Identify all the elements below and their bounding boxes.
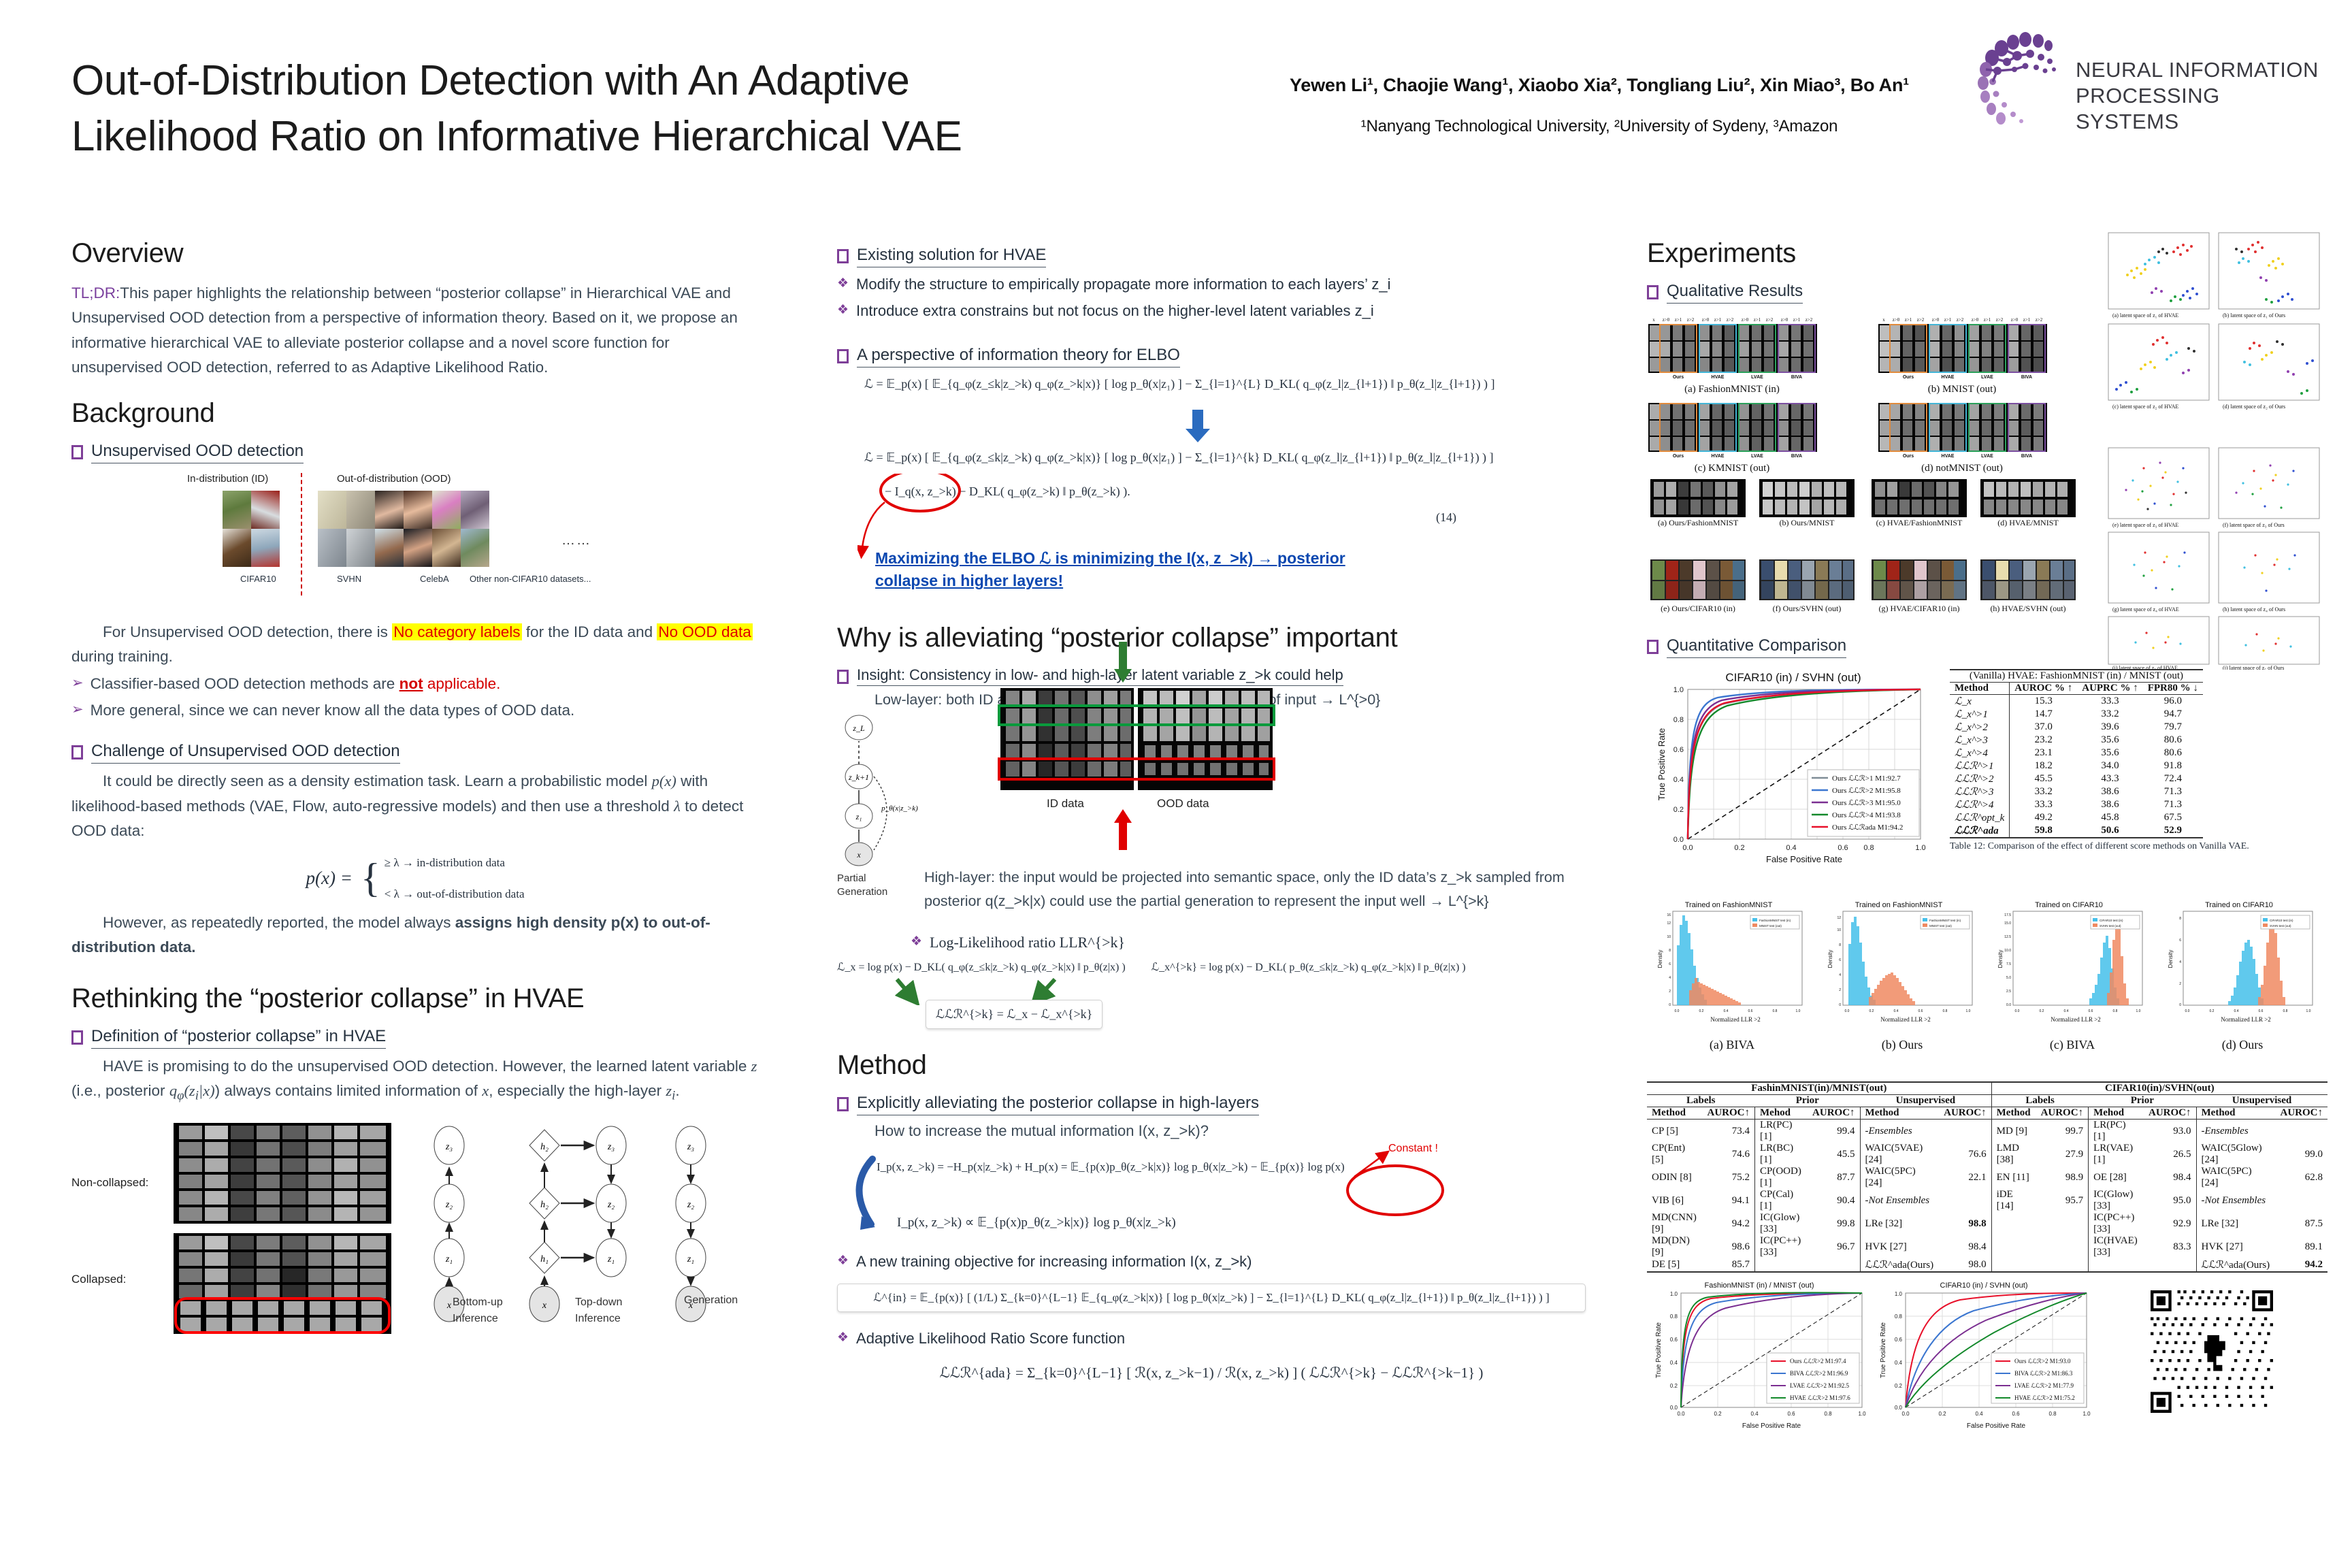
svg-text:0.2: 0.2 [1895,1383,1903,1389]
sub-challenge-label: Challenge of Unsupervised OOD detection [91,741,400,764]
table-cell [1991,1212,2036,1235]
table-cell: EN [11] [1991,1166,2036,1189]
table12-value-cell: 33.2 [2077,708,2143,721]
sample-grid-svg: xz>0z>1z>2 z>0z>1z>2 z>0z>1z>2 z>0z>1z>2… [1647,316,2096,528]
table-cell: CP [5] [1647,1120,1703,1143]
svg-text:BIVA: BIVA [1791,454,1802,459]
how-to-text: How to increase the mutual information I… [837,1122,1586,1140]
svg-text:0.6: 0.6 [1895,1337,1903,1343]
table12-method-cell: ℒ_x^>1 [1950,708,2010,721]
roc-fm-legend: Ours ℒℒℛ>2 M1:97.4 BIVA ℒℒℛ>2 M1:96.9 LV… [1767,1353,1859,1403]
equation-number-14: (14) [1436,510,1456,525]
table-cell [1755,1258,1808,1272]
equation-mi-2: I_p(x, z_>k) ∝ 𝔼_{p(x)p_θ(z_>k|x)} log p… [897,1215,1176,1230]
svg-text:(f) Ours/SVHN (out): (f) Ours/SVHN (out) [1773,604,1842,613]
svg-text:MNIST test (out): MNIST test (out) [1929,924,1952,928]
partial-gen-2: Generation [837,885,887,899]
thumb-ship [251,529,280,567]
svg-text:p_θ(x|z_>k): p_θ(x|z_>k) [881,804,918,813]
table-cell: LMD [38] [1991,1143,2036,1166]
down-arrow-icon [1184,410,1211,444]
svg-text:0.4: 0.4 [1670,1360,1678,1366]
svg-text:(c) HVAE/FashionMNIST: (c) HVAE/FashionMNIST [1876,518,1963,527]
main-comparison-table: FashinMNIST(in)/MNIST(out) CIFAR10(in)/S… [1647,1081,2327,1273]
table-cell: 98.6 [1703,1235,1755,1258]
figure-collapse-and-graphs: Non-collapsed: Collapsed: [71,1116,759,1341]
id-ood-divider [301,473,302,595]
table-cell: CP(Cal) [1] [1755,1189,1808,1212]
svg-text:Ours ℒℒℛ>2 M1:93.0: Ours ℒℒℛ>2 M1:93.0 [2014,1358,2071,1365]
svg-text:1.0: 1.0 [1915,844,1925,852]
svg-text:z>2: z>2 [1727,317,1734,323]
square-bullet-icon-2 [71,745,83,759]
table12-value-cell: 33.3 [2010,798,2078,811]
svg-text:(b) Ours/MNIST: (b) Ours/MNIST [1780,518,1835,527]
table-cell: MD [9] [1991,1120,2036,1143]
table12-method-cell: ℒ_x^>3 [1950,734,2010,747]
svg-text:MNIST test (out): MNIST test (out) [1759,924,1782,928]
svg-text:1.0: 1.0 [2136,1009,2141,1013]
svg-text:z_L: z_L [852,723,865,733]
table-cell: 94.1 [1703,1189,1755,1212]
sub-header-cell: Unsupervised [2196,1095,2327,1107]
svg-text:HVAE: HVAE [1712,454,1725,459]
svg-text:h₁: h₁ [540,1254,549,1264]
table12-value-cell: 71.3 [2143,798,2203,811]
svg-text:LVAE ℒℒℛ>2 M1:77.9: LVAE ℒℒℛ>2 M1:77.9 [2014,1382,2074,1389]
equation-px-piecewise: p(x) = { ≥ λ → in-distribution data < λ … [71,856,759,901]
svg-text:z>1: z>1 [1905,317,1912,323]
svg-text:0.6: 0.6 [1670,1337,1678,1343]
roc-main-xlabel: False Positive Rate [1766,854,1842,864]
bullet-extra-constraints: ❖ Introduce extra constrains but not foc… [837,299,1586,322]
brace-icon: { [361,861,380,896]
table-cell: WAIC(5PC) [24] [2196,1166,2275,1189]
latent-cap-b: (b) latent space of z₁ of Ours [2223,312,2285,318]
equation-ada-score: ℒℒℛ^{ada} = Σ_{k=0}^{L−1} [ ℛ(x, z_>k−1)… [837,1365,1586,1382]
bottom-roc-and-qr: FashionMNIST (in) / MNIST (out) 0.00.20.… [1647,1278,2341,1448]
diamond-bullet-icon: ❖ [837,274,849,294]
ada-score-label: Adaptive Likelihood Ratio Score function [856,1327,1125,1350]
table-row: ODIN [8]75.2CP(OOD) [1]87.7WAIC(5PC) [24… [1647,1166,2327,1189]
svg-text:2.5: 2.5 [2006,990,2011,994]
figure-id-ood-comparison: z_L z_k+1 z₁ x p_θ(x|z_>k) Partial Gener… [837,710,1586,883]
svg-text:z>0: z>0 [1972,317,1979,323]
llr-equation-row: ℒ_x = log p(x) − D_KL( q_φ(z_≤k|z_>k) q_… [837,960,1586,974]
bullet-modify-structure: ❖ Modify the structure to empirically pr… [837,273,1586,295]
table12-col-3: FPR80 % ↓ [2143,683,2203,695]
page-title: Out-of-Distribution Detection with An Ad… [71,53,1228,165]
svg-text:6: 6 [1839,958,1841,962]
svg-text:Trained on CIFAR10: Trained on CIFAR10 [2205,901,2273,909]
svg-text:0.2: 0.2 [1938,1411,1946,1417]
density-b: Trained on FashionMNIST [1827,901,1972,1052]
svg-text:FashionMNIST test (in): FashionMNIST test (in) [1759,919,1791,922]
svg-text:BIVA ℒℒℛ>2 M1:96.9: BIVA ℒℒℛ>2 M1:96.9 [1790,1370,1848,1377]
table12-value-cell: 37.0 [2010,721,2078,734]
table12-method-cell: ℒℒℛ^>1 [1950,759,2010,772]
tldr-label: TL;DR: [71,284,120,301]
table-cell: 95.7 [2036,1189,2089,1212]
square-bullet-icon-6 [837,670,849,684]
noncollapsed-sample-grid [174,1123,391,1224]
table-cell: 89.1 [2275,1235,2327,1258]
thumb-svhn-369 [346,491,375,529]
svg-text:z₁: z₁ [687,1254,694,1264]
main-table-head: FashinMNIST(in)/MNIST(out) CIFAR10(in)/S… [1647,1082,2327,1120]
equation-elbo-1: ℒ = 𝔼_p(x) [ 𝔼_{q_φ(z_≤k|z_>k) q_φ(z_>k|… [864,377,1495,391]
table-row: CP [5]73.4LR(PC) [1]99.4-EnsemblesMD [9]… [1647,1120,2327,1143]
section-why-heading: Why is alleviating “posterior collapse” … [837,623,1586,653]
svg-text:z₁: z₁ [607,1254,615,1264]
ellipsis-more-datasets: …… [561,533,591,549]
svg-text:0.4: 0.4 [1895,1360,1903,1366]
svg-text:0.2: 0.2 [1673,806,1684,814]
sub-quantitative-label: Quantitative Comparison [1667,636,1846,658]
sub-definition: Definition of “posterior collapse” in HV… [71,1026,759,1049]
title-line-1: Out-of-Distribution Detection with An Ad… [71,53,1228,109]
density-a: Trained on FashionMNIST [1657,901,1802,1052]
svg-text:Normalized LLR >2: Normalized LLR >2 [1880,1016,1931,1023]
table-cell: -Not Ensembles [2196,1189,2275,1212]
table12-value-cell: 80.6 [2143,747,2203,759]
svg-text:Normalized LLR >2: Normalized LLR >2 [2051,1016,2101,1023]
fig-svhn-caption: SVHN [337,574,361,584]
table12-value-cell: 14.7 [2010,708,2078,721]
thumb-frog [223,491,251,529]
table-cell: HVK [27] [2196,1235,2275,1258]
equation-mi-1: I_p(x, z_>k) = −H_p(x|z_>k) + H_p(x) = 𝔼… [877,1160,1345,1174]
table12-col-2: AUPRC % ↑ [2077,683,2143,695]
table-cell: 74.6 [1703,1143,1755,1166]
caption-top-down-b: Inference [575,1311,622,1327]
figure-id-ood-datasets: In-distribution (ID) Out-of-distribution… [71,473,759,616]
thumb-celeba-2 [404,491,432,529]
table-cell [1808,1258,1860,1272]
svg-text:HVAE ℒℒℛ>2 M1:75.2: HVAE ℒℒℛ>2 M1:75.2 [2014,1394,2075,1401]
table12-method-cell: ℒℒℛ^opt_k [1950,811,2010,824]
qr-code-icon[interactable] [2151,1290,2273,1413]
thumb-svhn-11 [318,529,346,567]
table12-value-cell: 59.8 [2010,824,2078,838]
table-cell [1991,1235,2036,1258]
ood-image-grid [318,491,489,567]
table12-value-cell: 67.5 [2143,811,2203,824]
table-cell: 95.0 [2144,1189,2196,1212]
density-cap-d: (d) Ours [2222,1038,2264,1052]
table-cell: 45.5 [1808,1143,1860,1166]
svg-text:z>2: z>2 [1766,317,1774,323]
svg-text:Ours: Ours [1673,454,1684,459]
table-cell: LRe [32] [2196,1212,2275,1235]
svg-text:1.0: 1.0 [1796,1009,1801,1013]
group-header-0: FashinMNIST(in)/MNIST(out) [1647,1082,1991,1095]
svg-text:CIFAR10 test (in): CIFAR10 test (in) [2100,919,2123,922]
svg-text:z₃: z₃ [687,1142,694,1152]
svg-text:0.0: 0.0 [1682,844,1693,852]
table12-body: ℒ_x15.333.396.0ℒ_x^>114.733.294.7ℒ_x^>23… [1950,695,2203,838]
svg-text:0.0: 0.0 [1673,836,1684,844]
svg-text:z₂: z₂ [445,1200,453,1210]
square-bullet-icon-8 [1647,285,1659,299]
svg-text:10.0: 10.0 [2004,949,2011,953]
table-cell: LRe [32] [1860,1212,1939,1235]
sub-existing-solution: Existing solution for HVAE [837,245,1586,267]
table-cell: 87.7 [1808,1166,1860,1189]
section-background-heading: Background [71,398,759,429]
sub-header-row: LabelsPriorUnsupervisedLabelsPriorUnsupe… [1647,1095,2327,1107]
table-cell [1939,1189,1991,1212]
svg-text:0.0: 0.0 [2006,1003,2011,1007]
arrow-bullet-icon-2: ➢ [71,699,84,721]
table-cell: 73.4 [1703,1120,1755,1143]
hvae-chain-diagram: z_L z_k+1 z₁ x p_θ(x|z_>k) [837,714,919,870]
density-c: Trained on CIFAR10 [1997,901,2142,1052]
diamond-bullet-icon-3: ❖ [911,932,922,952]
sub-explicit: Explicitly alleviating the posterior col… [837,1093,1586,1115]
svg-text:Ours ℒℒℛ>2 M1:97.4: Ours ℒℒℛ>2 M1:97.4 [1790,1358,1846,1365]
svg-text:16: 16 [1667,913,1671,917]
table-cell: 99.4 [1808,1120,1860,1143]
fig-ood-label: Out-of-distribution (OOD) [337,473,451,485]
table-cell: CP(OOD) [1] [1755,1166,1808,1189]
table-row: ℒℒℛ^opt_k49.245.867.5 [1950,811,2203,824]
table-cell: ℒℒℛ^ada(Ours) [2196,1258,2275,1272]
main-comparison-table-wrapper: FashinMNIST(in)/MNIST(out) CIFAR10(in)/S… [1647,1081,2341,1273]
cifar-svhn-sample-row: (e) Ours/CIFAR10 (in)(f) Ours/SVHN (out)… [1647,558,2096,618]
svg-text:z>1: z>1 [1714,317,1722,323]
table12-value-cell: 96.0 [2143,695,2203,708]
definition-paragraph: HAVE is promising to do the unsupervised… [71,1054,759,1107]
author-list: Yewen Li¹, Chaojie Wang¹, Xiaobo Xia², T… [1239,75,1960,96]
table-cell: MD(CNN) [9] [1647,1212,1703,1235]
col-header-cell: Method [1991,1107,2036,1120]
svg-text:8: 8 [1839,943,1841,947]
svg-text:z>1: z>1 [1675,317,1682,323]
svg-text:0.0: 0.0 [2015,1009,2020,1013]
svg-text:0.2: 0.2 [2210,1009,2215,1013]
svg-text:10: 10 [1667,935,1671,939]
table-cell: 26.5 [2144,1143,2196,1166]
svg-text:Normalized LLR >2: Normalized LLR >2 [1710,1016,1761,1023]
table-cell: IC(Glow) [33] [2089,1189,2144,1212]
bullet-more-general: ➢ More general, since we can never know … [71,699,759,723]
table12-value-cell: 72.4 [2143,772,2203,785]
svg-text:Trained on FashionMNIST: Trained on FashionMNIST [1855,901,1943,909]
svg-text:0.4: 0.4 [1724,1009,1729,1013]
table-cell [2036,1235,2089,1258]
thumb-horse [223,529,251,567]
col-header-cell: Method [2196,1107,2275,1120]
table12-value-cell: 33.2 [2010,785,2078,798]
svg-text:FashionMNIST test (in): FashionMNIST test (in) [1929,919,1961,922]
sub-perspective: A perspective of information theory for … [837,345,1586,367]
svg-text:z₂: z₂ [607,1200,615,1210]
svg-text:1.0: 1.0 [1673,686,1684,694]
svg-text:0.0: 0.0 [2185,1009,2190,1013]
middle-column: Existing solution for HVAE ❖ Modify the … [837,238,1586,1382]
sub-unsupervised-ood: Unsupervised OOD detection [71,441,759,463]
svg-text:0.6: 0.6 [2012,1411,2020,1417]
density-plots-row: Trained on FashionMNIST [1647,898,2341,1080]
table12-value-cell: 91.8 [2143,759,2203,772]
svg-text:0.6: 0.6 [1787,1411,1795,1417]
svg-text:0.0: 0.0 [1895,1405,1903,1411]
svg-text:0.0: 0.0 [1670,1405,1678,1411]
svg-text:z>1: z>1 [1793,317,1801,323]
col-header-cell: AUROC↑ [1703,1107,1755,1120]
table12-value-cell: 45.5 [2010,772,2078,785]
table-row: ℒℒℛ^>118.234.091.8 [1950,759,2203,772]
svg-text:z₃: z₃ [445,1142,453,1152]
table-cell: OE [28] [2089,1166,2144,1189]
cap-b: (b) MNIST (out) [1928,384,1997,395]
fig-label-ood-data: OOD data [1157,797,1209,811]
svg-text:BIVA ℒℒℛ>2 M1:86.3: BIVA ℒℒℛ>2 M1:86.3 [2014,1370,2073,1377]
bullet-ada-score: ❖ Adaptive Likelihood Ratio Score functi… [837,1327,1586,1350]
table12-method-cell: ℒℒℛ^>4 [1950,798,2010,811]
table12-value-cell: 38.6 [2077,798,2143,811]
table-cell: ODIN [8] [1647,1166,1703,1189]
svg-text:(d) HVAE/MNIST: (d) HVAE/MNIST [1997,518,2059,527]
table12-value-cell: 39.6 [2077,721,2143,734]
svg-text:0.6: 0.6 [2089,1009,2093,1013]
svg-text:HVAE: HVAE [1942,454,1955,459]
table-cell: WAIC(5PC) [24] [1860,1166,1939,1189]
table-cell: 92.9 [2144,1212,2196,1235]
svg-text:0.2: 0.2 [1869,1009,1874,1013]
col-header-cell: AUROC↑ [2144,1107,2196,1120]
svg-text:0: 0 [1669,1003,1671,1007]
partial-gen-1: Partial [837,872,887,885]
svg-text:6: 6 [2179,938,2181,943]
svg-text:12.5: 12.5 [2004,935,2011,939]
svg-text:2: 2 [2179,982,2181,986]
svg-text:HVAE: HVAE [1712,375,1725,380]
fig-label-id-data: ID data [1047,797,1084,811]
table-cell: 85.7 [1703,1258,1755,1272]
table12-method-cell: ℒℒℛ^>2 [1950,772,2010,785]
svg-text:8: 8 [1669,949,1671,953]
svg-text:x: x [1882,317,1885,323]
svg-text:Ours ℒℒℛ>3 M1:95.0: Ours ℒℒℛ>3 M1:95.0 [1832,799,1901,807]
latent-cap-d: (d) latent space of z₂ of Ours [2223,404,2285,410]
table12-value-cell: 79.7 [2143,721,2203,734]
poster-header: Out-of-Distribution Detection with An Ad… [0,0,2352,204]
fig-id-label: In-distribution (ID) [187,473,268,485]
id-image-grid [223,491,280,567]
svg-text:0.4: 0.4 [2234,1009,2239,1013]
group-header-1: CIFAR10(in)/SVHN(out) [1991,1082,2327,1095]
svg-text:0.8: 0.8 [2048,1411,2057,1417]
bullet-modify-structure-text: Modify the structure to empirically prop… [856,273,1390,295]
roc-fm-title: FashionMNIST (in) / MNIST (out) [1705,1281,1814,1290]
thumb-room [432,529,461,567]
table-cell: 76.6 [1939,1143,1991,1166]
table-cell: 75.2 [1703,1166,1755,1189]
arrow1-b: applicable. [423,675,501,692]
table-row: ℒ_x^>323.235.680.6 [1950,734,2203,747]
svg-text:0.2: 0.2 [1699,1009,1704,1013]
table-cell: 98.9 [2036,1166,2089,1189]
caption-top-down-a: Top-down [575,1294,622,1311]
table-cell [1939,1120,1991,1143]
bullet-classifier-based: ➢ Classifier-based OOD detection methods… [71,672,759,696]
table-cell [2089,1258,2144,1272]
svg-text:Ours: Ours [1903,375,1914,380]
bullet-more-general-text: More general, since we can never know al… [91,699,575,723]
svg-text:z>1: z>1 [1984,317,1991,323]
latent-space-panels-2: (e) latent space of z₃ of HVAE (f) laten… [2103,445,2327,670]
thumb-flower [432,491,461,529]
challenge-paragraph: It could be directly seen as a density e… [71,769,759,843]
svg-text:10: 10 [1837,928,1841,932]
svg-text:x: x [1652,317,1655,323]
table-cell: 99.7 [2036,1120,2089,1143]
svg-text:0.4: 0.4 [1894,1009,1899,1013]
table-cell: 94.2 [1703,1212,1755,1235]
svg-text:z>2: z>2 [1687,317,1695,323]
logo-line-1: NEURAL INFORMATION [2076,57,2327,83]
svg-text:0: 0 [1839,1003,1841,1007]
col-header-cell: Mehod [1755,1107,1808,1120]
table-row: ℒℒℛ^ada59.850.652.9 [1950,824,2203,838]
svg-text:7.5: 7.5 [2006,962,2011,966]
svg-text:0.8: 0.8 [1673,716,1684,724]
table-cell: VIB [6] [1647,1189,1703,1212]
svg-text:Ours ℒℒℛ>2 M1:95.8: Ours ℒℒℛ>2 M1:95.8 [1832,787,1901,795]
table12-value-cell: 23.2 [2010,734,2078,747]
table-cell: DE [5] [1647,1258,1703,1272]
latent-cap-a: (a) latent space of z₁ of HVAE [2112,312,2178,318]
svg-text:0.4: 0.4 [1673,776,1684,784]
table-cell: LR(PC) [1] [1755,1120,1808,1143]
arrow-bullet-icon: ➢ [71,672,84,694]
sub-explicit-label: Explicitly alleviating the posterior col… [857,1093,1259,1115]
svg-text:Ours ℒℒℛ>4 M1:93.8: Ours ℒℒℛ>4 M1:93.8 [1832,811,1901,819]
svg-text:0.0: 0.0 [1677,1411,1685,1417]
bullet-classifier-text: Classifier-based OOD detection methods a… [91,672,501,696]
roc-main-ylabel: True Positive Rate [1656,728,1667,800]
svg-text:z>0: z>0 [1663,317,1670,323]
neurips-logo: NEURAL INFORMATION PROCESSING SYSTEMS [1974,29,2327,131]
svg-text:0.2: 0.2 [1714,1411,1722,1417]
thumb-svhn-0 [318,491,346,529]
cap-a: (a) FashionMNIST (in) [1684,384,1780,395]
table-row: VIB [6]94.1CP(Cal) [1]90.4-Not Ensembles… [1647,1189,2327,1212]
table12-value-cell: 35.6 [2077,734,2143,747]
table-cell: -Ensembles [2196,1120,2275,1143]
svg-text:(h) HVAE/SVHN (out): (h) HVAE/SVHN (out) [1990,604,2065,613]
table-cell [2144,1258,2196,1272]
table12: (Vanilla) HVAE: FashionMNIST (in) / MNIS… [1950,669,2203,838]
svg-text:0.0: 0.0 [1901,1411,1910,1417]
table-cell: LR(VAE) [1] [2089,1143,2144,1166]
table12-value-cell: 94.7 [2143,708,2203,721]
svg-text:LVAE ℒℒℛ>2 M1:92.5: LVAE ℒℒℛ>2 M1:92.5 [1790,1382,1849,1389]
svg-text:1.0: 1.0 [1670,1291,1678,1297]
svg-text:0.8: 0.8 [1824,1411,1832,1417]
table-cell: iDE [14] [1991,1189,2036,1212]
table-cell: 99.0 [2275,1143,2327,1166]
table-cell: 98.8 [1939,1212,1991,1235]
col-header-cell: AUROC↑ [2036,1107,2089,1120]
bullet-extra-constraints-text: Introduce extra constrains but not focus… [856,299,1374,322]
svg-text:z>1: z>1 [1944,317,1952,323]
caption-bottom-up: Bottom-up Inference [453,1294,503,1327]
table-row: ℒ_x^>237.039.679.7 [1950,721,2203,734]
table-cell: IC(Glow) [33] [1755,1212,1808,1235]
